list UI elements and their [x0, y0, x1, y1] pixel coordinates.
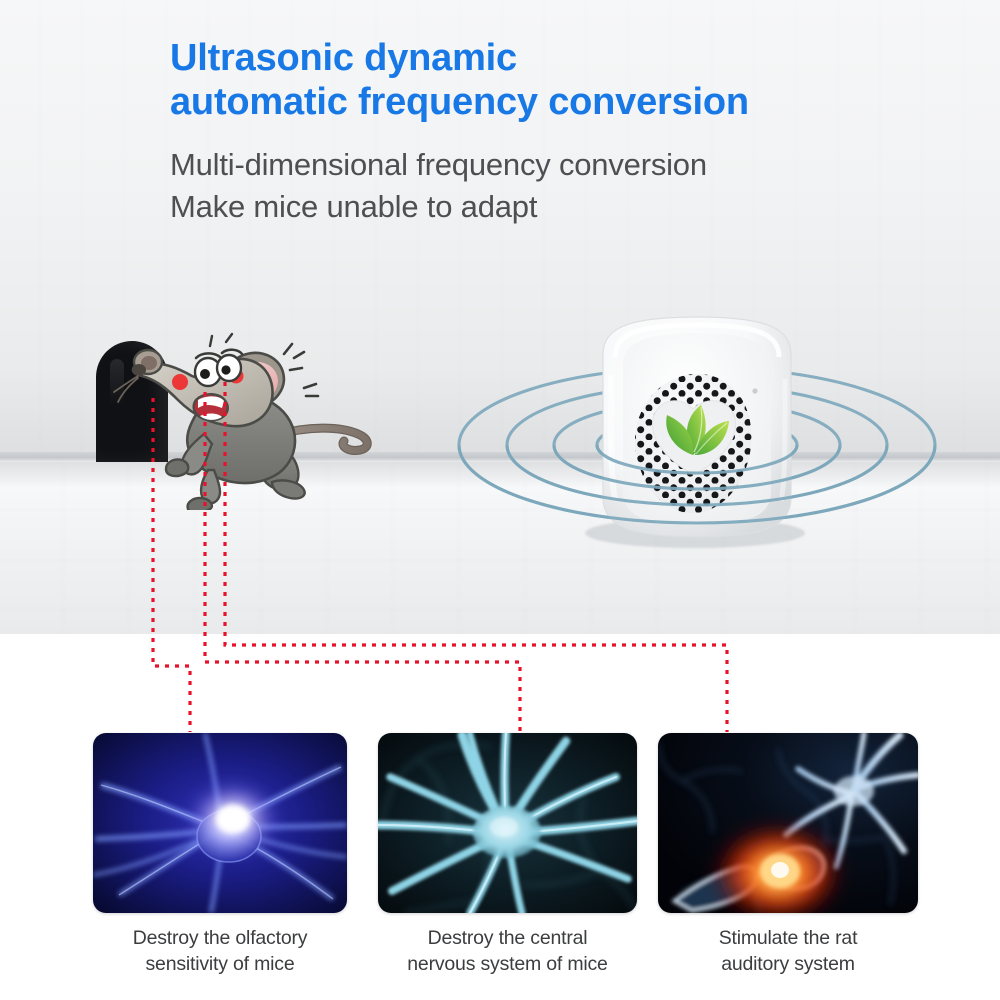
panel-auditory[interactable]	[658, 733, 918, 913]
caption-auditory-line2: auditory system	[658, 951, 918, 977]
cartoon-mouse	[108, 330, 378, 510]
caption-auditory: Stimulate the rat auditory system	[658, 925, 918, 977]
caption-central-nervous: Destroy the central nervous system of mi…	[366, 925, 649, 977]
headline-block: Ultrasonic dynamic automatic frequency c…	[170, 36, 960, 229]
subheadline-line2: Make mice unable to adapt	[170, 185, 960, 229]
caption-central-nervous-line2: nervous system of mice	[366, 951, 649, 977]
panel-olfactory[interactable]	[93, 733, 347, 913]
headline-line1: Ultrasonic dynamic	[170, 36, 960, 80]
subheadline-line1: Multi-dimensional frequency conversion	[170, 143, 960, 187]
ultrasonic-pest-repeller	[455, 295, 955, 595]
red-synapse-glow-image	[658, 733, 918, 913]
cyan-neuron-dendrites-image	[378, 733, 637, 913]
blue-neuron-flash-image	[93, 733, 347, 913]
caption-olfactory-line1: Destroy the olfactory	[93, 925, 347, 951]
caption-olfactory: Destroy the olfactory sensitivity of mic…	[93, 925, 347, 977]
product-infographic: Destroy the olfactory sensitivity of mic…	[0, 0, 1000, 1000]
caption-olfactory-line2: sensitivity of mice	[93, 951, 347, 977]
headline-line2: automatic frequency conversion	[170, 80, 960, 124]
caption-auditory-line1: Stimulate the rat	[658, 925, 918, 951]
caption-central-nervous-line1: Destroy the central	[366, 925, 649, 951]
panel-central-nervous[interactable]	[378, 733, 637, 913]
